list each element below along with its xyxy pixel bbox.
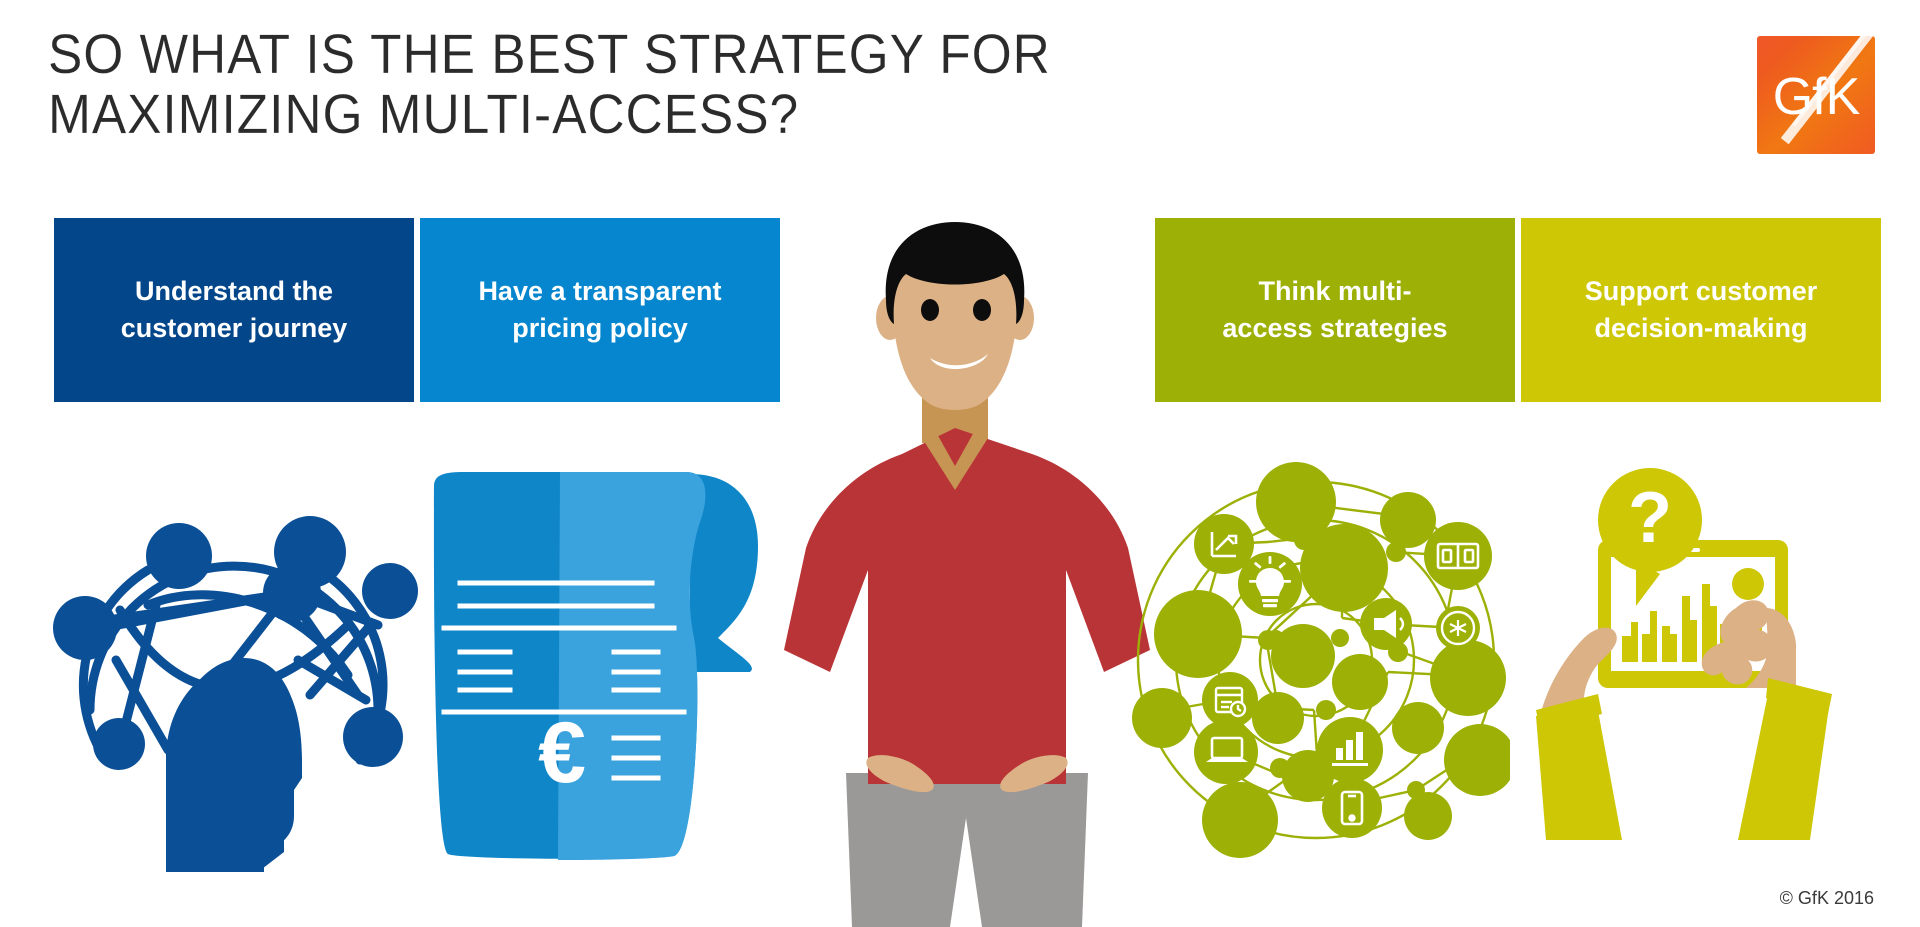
statement-box-label: Support customer decision-making	[1585, 273, 1818, 347]
customer-journey-network-head-icon	[48, 460, 420, 872]
question-mark-glyph: ?	[1628, 478, 1672, 558]
statement-box-multi-access-strategies[interactable]: Think multi- access strategies	[1155, 218, 1515, 402]
page-title-line-1: SO WHAT IS THE BEST STRATEGY FOR	[48, 24, 1134, 84]
copyright-text: © GfK 2016	[1780, 888, 1874, 909]
invoice-euro-receipt-icon: €	[418, 460, 770, 860]
statement-box-label: Have a transparent pricing policy	[478, 273, 721, 347]
gfk-logo: GfK	[1757, 36, 1875, 154]
statement-box-support-decision-making[interactable]: Support customer decision-making	[1521, 218, 1881, 402]
multi-access-network-cluster-icon	[1128, 460, 1510, 860]
logo-wordmark: GfK	[1757, 67, 1875, 127]
page-title-line-2: MAXIMIZING MULTI-ACCESS?	[48, 84, 1134, 144]
tablet-chart-question-icon: ?	[1510, 448, 1910, 840]
statement-box-transparent-pricing[interactable]: Have a transparent pricing policy	[420, 218, 780, 402]
standing-man-illustration	[782, 218, 1152, 927]
slide-canvas: SO WHAT IS THE BEST STRATEGY FOR MAXIMIZ…	[0, 0, 1920, 927]
svg-text:€: €	[538, 705, 586, 801]
statement-box-understand-journey[interactable]: Understand the customer journey	[54, 218, 414, 402]
statement-box-label: Think multi- access strategies	[1222, 273, 1447, 347]
page-title: SO WHAT IS THE BEST STRATEGY FOR MAXIMIZ…	[48, 24, 1134, 144]
statement-box-label: Understand the customer journey	[121, 273, 348, 347]
